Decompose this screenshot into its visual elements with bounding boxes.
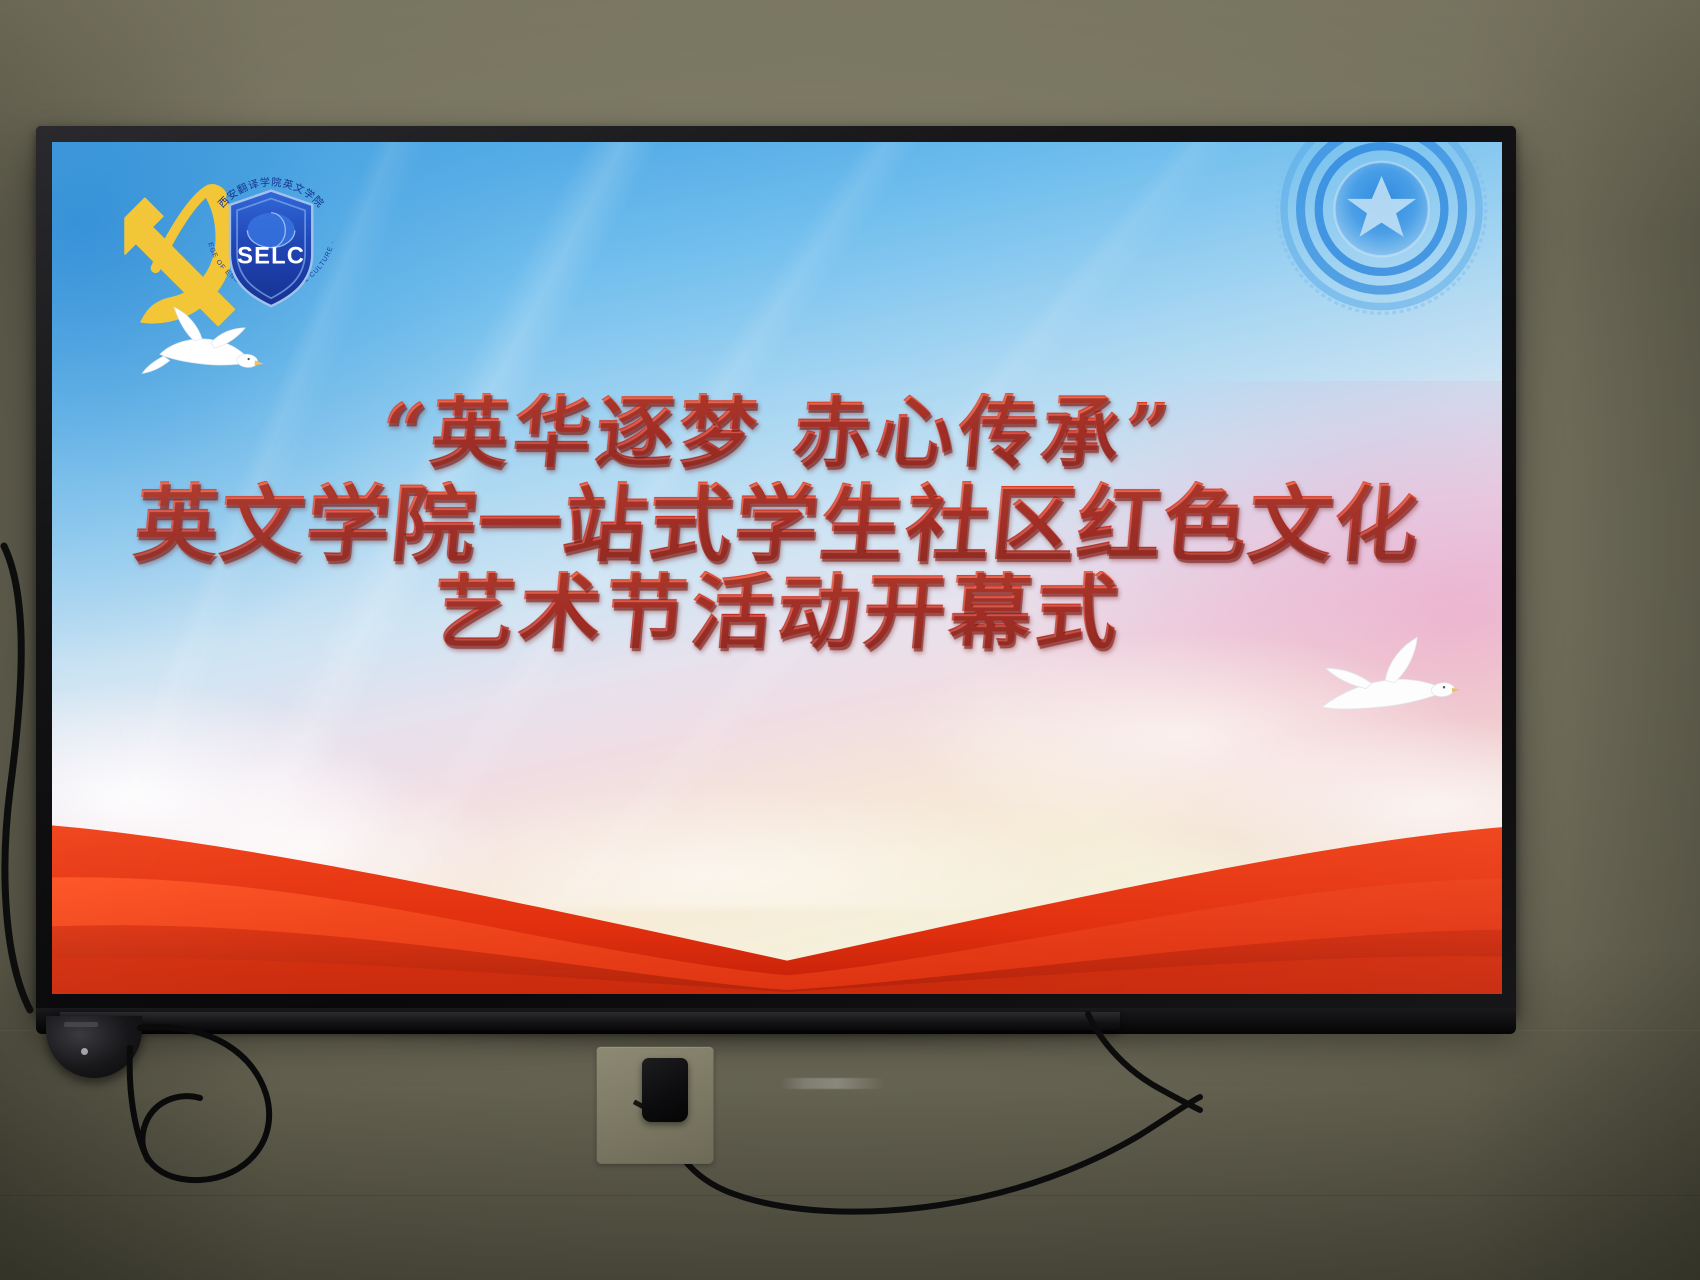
tv-ir-sensor [64, 1022, 98, 1027]
tv-bezel: 西安翻译学院英文学院 COLLEGE OF ENGLISH LANGUAGE &… [36, 126, 1516, 1016]
wall-seam-lower [0, 1195, 1700, 1196]
tv-screen[interactable]: 西安翻译学院英文学院 COLLEGE OF ENGLISH LANGUAGE &… [52, 142, 1502, 994]
peace-dove-icon-right [1300, 611, 1464, 750]
mount-indicator-dot [81, 1048, 88, 1055]
room-scene: 西安翻译学院英文学院 COLLEGE OF ENGLISH LANGUAGE &… [0, 0, 1700, 1280]
tv-brand-logo [780, 1078, 890, 1089]
peace-dove-icon-left [133, 280, 275, 408]
power-plug[interactable] [642, 1058, 688, 1122]
communist-youth-league-emblem [1190, 142, 1502, 415]
wall-mount-bar [60, 1012, 1120, 1030]
svg-text:SELC: SELC [237, 243, 305, 269]
cable-to-socket [640, 1095, 1280, 1255]
red-ribbon-mountains [52, 757, 1502, 994]
television[interactable]: 西安翻译学院英文学院 COLLEGE OF ENGLISH LANGUAGE &… [36, 126, 1516, 1016]
